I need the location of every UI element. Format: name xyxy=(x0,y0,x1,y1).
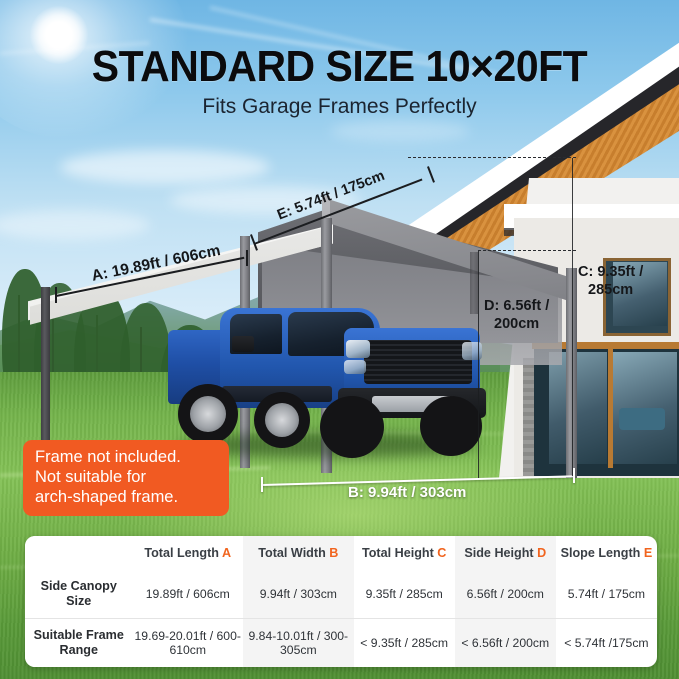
table-row: Side Canopy Size 19.89ft / 606cm 9.94ft … xyxy=(25,570,657,619)
dimension-guide-d-top xyxy=(478,250,576,251)
table-header-row: Total Length A Total Width B Total Heigh… xyxy=(25,536,657,570)
table-col-header-b: Total Width B xyxy=(243,536,354,570)
cell-frame-e: < 5.74ft /175cm xyxy=(556,619,657,668)
cell-canopy-c: 9.35ft / 285cm xyxy=(354,570,455,619)
cell-canopy-e: 5.74ft / 175cm xyxy=(556,570,657,619)
table-row: Suitable Frame Range 19.69-20.01ft / 600… xyxy=(25,619,657,668)
dimension-label-d-line2: 200cm xyxy=(484,315,549,333)
dimension-tick-a-left xyxy=(55,287,57,303)
cell-frame-b: 9.84-10.01ft / 300-305cm xyxy=(243,619,354,668)
cell-canopy-a: 19.89ft / 606cm xyxy=(132,570,243,619)
warning-callout: Frame not included. Not suitable for arc… xyxy=(23,440,229,516)
table-col-header-d: Side Height D xyxy=(455,536,556,570)
dimension-line-d xyxy=(478,250,479,478)
dimension-line-c xyxy=(572,158,573,476)
warning-line-1: Frame not included. xyxy=(35,447,219,467)
dimension-tick-b-left xyxy=(261,477,263,492)
col-label-d: Side Height xyxy=(464,546,533,560)
dimension-label-d: D: 6.56ft / 200cm xyxy=(484,297,549,333)
col-label-a: Total Length xyxy=(144,546,219,560)
table-col-header-a: Total Length A xyxy=(132,536,243,570)
col-letter-b: B xyxy=(329,546,338,560)
dimension-tick-a-right xyxy=(246,250,248,266)
dimension-label-d-line1: D: 6.56ft / xyxy=(484,297,549,315)
cell-canopy-b: 9.94ft / 303cm xyxy=(243,570,354,619)
page-subtitle: Fits Garage Frames Perfectly xyxy=(0,95,679,119)
col-letter-d: D xyxy=(537,546,546,560)
spec-table-container: Total Length A Total Width B Total Heigh… xyxy=(25,536,657,667)
cell-canopy-d: 6.56ft / 200cm xyxy=(455,570,556,619)
canopy-leg-rear-left xyxy=(41,287,50,447)
page-title: STANDARD SIZE 10×20FT xyxy=(24,44,655,90)
col-label-c: Total Height xyxy=(362,546,434,560)
col-letter-e: E xyxy=(644,546,652,560)
dimension-label-c: C: 9.35ft / 285cm xyxy=(578,263,643,299)
dimension-label-b: B: 9.94ft / 303cm xyxy=(348,484,466,501)
cell-frame-a: 19.69-20.01ft / 600-610cm xyxy=(132,619,243,668)
spec-table: Total Length A Total Width B Total Heigh… xyxy=(25,536,657,667)
col-letter-a: A xyxy=(222,546,231,560)
warning-line-3: arch-shaped frame. xyxy=(35,487,219,507)
table-corner-cell xyxy=(25,536,132,570)
row-label-side-canopy-size: Side Canopy Size xyxy=(25,570,132,619)
table-col-header-c: Total Height C xyxy=(354,536,455,570)
row-label-suitable-frame-range: Suitable Frame Range xyxy=(25,619,132,668)
dimension-guide-c-top xyxy=(408,157,576,158)
col-letter-c: C xyxy=(437,546,446,560)
warning-line-2: Not suitable for xyxy=(35,467,219,487)
cell-frame-c: < 9.35ft / 285cm xyxy=(354,619,455,668)
dimension-label-c-line2: 285cm xyxy=(578,281,643,299)
col-label-b: Total Width xyxy=(258,546,326,560)
table-col-header-e: Slope Length E xyxy=(556,536,657,570)
product-infographic: STANDARD SIZE 10×20FT Fits Garage Frames… xyxy=(0,0,679,679)
blue-pickup-truck xyxy=(168,292,488,452)
cloud xyxy=(60,150,270,184)
dimension-label-c-line1: C: 9.35ft / xyxy=(578,263,643,281)
col-label-e: Slope Length xyxy=(561,546,641,560)
cell-frame-d: < 6.56ft / 200cm xyxy=(455,619,556,668)
